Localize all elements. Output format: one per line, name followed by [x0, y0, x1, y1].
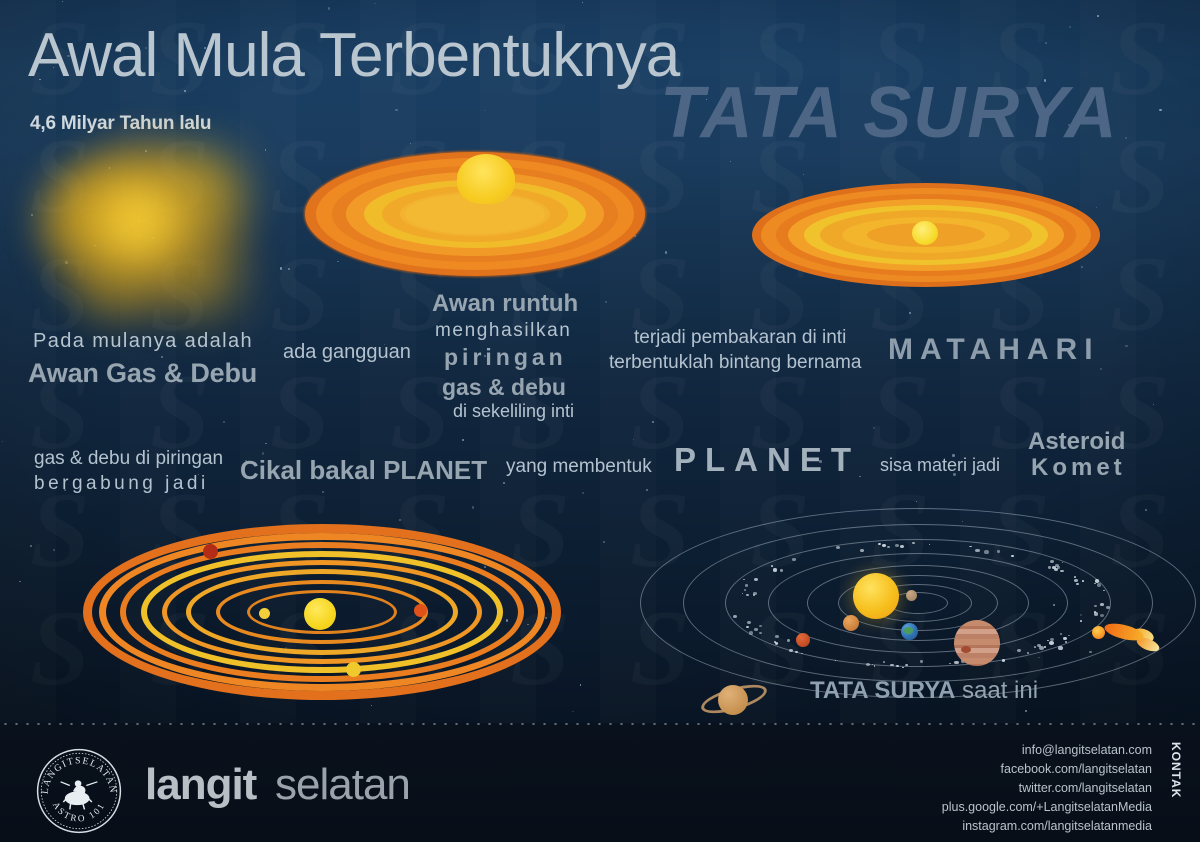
logo-badge: LANGITSELATAN ASTRO 101	[33, 745, 125, 837]
asteroid	[754, 628, 757, 631]
asteroid	[1058, 646, 1063, 650]
asteroid	[890, 664, 893, 667]
planet-venus	[843, 615, 859, 631]
asteroid	[970, 546, 972, 547]
step-4-label-matahari: MATAHARI	[888, 333, 1100, 367]
planetesimal-1	[259, 608, 270, 619]
asteroid	[749, 631, 753, 634]
diagram-protoplanetary-disk-2	[752, 180, 1100, 290]
star	[2, 441, 3, 442]
asteroid	[912, 542, 915, 544]
asteroid	[1100, 603, 1104, 606]
asteroid	[747, 621, 751, 624]
asteroid	[801, 653, 803, 655]
star	[1069, 26, 1071, 28]
asteroid	[887, 546, 890, 548]
star	[462, 439, 464, 441]
asteroid	[759, 625, 762, 627]
asteroid	[789, 649, 793, 652]
asteroid	[1027, 652, 1029, 654]
asteroid	[1095, 579, 1099, 582]
planetesimal-4	[346, 662, 361, 677]
asteroid	[746, 626, 748, 628]
asteroid	[771, 565, 773, 567]
present-system-label: TATA SURYA saat ini	[810, 677, 1038, 705]
star	[395, 109, 397, 111]
star	[1153, 404, 1154, 405]
asteroid	[795, 651, 798, 653]
asteroid	[835, 660, 836, 661]
asteroid	[753, 592, 756, 595]
asteroid	[1011, 555, 1013, 557]
star	[223, 421, 224, 422]
step-3-line-5: di sekeliling inti	[453, 401, 574, 422]
contact-email[interactable]: info@langitselatan.com	[942, 741, 1152, 760]
asteroid	[776, 643, 778, 645]
star	[1159, 109, 1161, 111]
asteroid	[1080, 620, 1083, 622]
star	[374, 3, 375, 4]
asteroid	[1017, 649, 1021, 652]
asteroid	[1048, 566, 1052, 569]
asteroid	[746, 594, 748, 596]
step-3-line-3: piringan	[444, 344, 567, 371]
step-5-line-1: gas & debu di piringan	[34, 448, 223, 470]
star	[371, 705, 372, 706]
asteroid	[1062, 562, 1063, 563]
asteroid	[905, 664, 907, 666]
star	[665, 251, 667, 253]
star	[1100, 368, 1102, 370]
asteroid	[1068, 635, 1070, 636]
asteroid	[742, 593, 743, 594]
footer-divider	[0, 723, 1200, 725]
earth-landmass	[904, 627, 913, 634]
asteroid	[787, 639, 790, 641]
step-3-line-2: menghasilkan	[435, 320, 571, 342]
asteroid	[895, 544, 899, 547]
star	[410, 143, 411, 144]
asteroid	[984, 550, 989, 554]
star	[1125, 345, 1127, 347]
asteroid	[954, 661, 959, 665]
asteroid	[1049, 641, 1054, 645]
asteroid	[773, 568, 778, 572]
asteroid	[1002, 659, 1005, 662]
asteroid	[754, 578, 758, 581]
asteroid	[949, 663, 951, 664]
jupiter-red-spot	[961, 646, 971, 653]
asteroid	[1106, 606, 1111, 610]
step-6-connector: yang membentuk	[506, 456, 652, 478]
star	[803, 174, 804, 175]
star	[322, 491, 324, 493]
planet-jupiter	[954, 620, 1000, 666]
infographic-poster: SSSSSSSSSSSSSSSSSSSSSSSSSSSSSSSSSSSSSSSS…	[0, 0, 1200, 842]
step-1-caption-bold: Awan Gas & Debu	[28, 358, 257, 389]
asteroid	[1060, 570, 1064, 573]
star	[53, 549, 55, 551]
asteroid	[860, 549, 864, 552]
step-5-line-2: bergabung jadi	[34, 473, 209, 495]
asteroid	[780, 569, 784, 572]
star	[633, 439, 634, 440]
step-4-line-1: terjadi pembakaran di inti	[634, 327, 846, 349]
step-7-connector: sisa materi jadi	[880, 455, 1000, 476]
star	[280, 267, 282, 269]
step-4-line-2: terbentuklah bintang bernama	[609, 352, 861, 374]
asteroid	[1054, 568, 1058, 571]
asteroid	[997, 550, 1001, 553]
asteroid	[1097, 583, 1101, 587]
star	[580, 684, 581, 685]
step-1-caption-top: Pada mulanya adalah	[33, 330, 253, 353]
asteroid	[733, 615, 737, 618]
asteroid	[1082, 580, 1084, 582]
asteroid	[902, 667, 904, 669]
star	[62, 1, 63, 2]
present-system-label-light: saat ini	[962, 677, 1038, 704]
star	[605, 301, 607, 303]
star	[503, 482, 505, 484]
asteroid	[883, 661, 886, 663]
proto-sun	[304, 598, 336, 630]
step-6-label-planet: PLANET	[674, 441, 860, 479]
step-5-label-cikal-bakal-planet: Cikal bakal PLANET	[240, 455, 487, 486]
star	[1097, 15, 1099, 17]
star	[873, 427, 875, 429]
diagram-early-solar-system	[82, 522, 562, 702]
asteroid	[744, 589, 746, 591]
asteroid	[882, 544, 886, 547]
contact-twitter[interactable]: twitter.com/langitselatan	[942, 779, 1152, 798]
step-3-line-4: gas & debu	[442, 374, 566, 401]
star	[582, 2, 583, 3]
planet-saturn	[696, 674, 772, 726]
asteroid	[775, 635, 779, 638]
star	[1025, 710, 1027, 712]
asteroid	[920, 660, 923, 663]
asteroid	[1034, 646, 1036, 648]
asteroid	[1100, 614, 1104, 617]
planet-mercury	[906, 590, 917, 601]
star	[1125, 137, 1127, 139]
asteroid	[1094, 583, 1096, 584]
asteroid	[1044, 646, 1046, 647]
star	[328, 7, 330, 9]
diagram-protoplanetary-disk-1	[305, 148, 645, 280]
star	[582, 492, 584, 494]
star	[399, 519, 401, 521]
planet-mars	[796, 633, 810, 647]
comet	[1086, 623, 1158, 657]
star	[484, 110, 485, 111]
asteroid	[1063, 637, 1067, 640]
asteroid	[896, 665, 899, 667]
step-7-label-asteroid: Asteroid	[1028, 428, 1125, 456]
planetesimal-2	[414, 604, 427, 617]
planet-sun	[853, 573, 899, 619]
present-system-label-bold: TATA SURYA	[810, 677, 955, 704]
asteroid	[1094, 605, 1097, 608]
step-7-label-komet: Komet	[1031, 454, 1126, 482]
asteroid	[929, 544, 931, 545]
asteroid	[866, 663, 870, 666]
asteroid	[743, 579, 745, 581]
asteroid	[1065, 641, 1067, 643]
contact-facebook[interactable]: facebook.com/langitselatan	[942, 760, 1152, 779]
brand-name-bold: langit	[145, 760, 256, 810]
planetesimal-3	[203, 544, 218, 559]
star	[472, 506, 474, 508]
asteroid	[1050, 560, 1054, 563]
asteroid	[1076, 583, 1078, 585]
asteroid	[759, 632, 762, 635]
star	[909, 312, 911, 314]
star	[30, 545, 32, 547]
asteroid	[900, 545, 904, 548]
star	[288, 268, 290, 270]
star	[652, 421, 654, 423]
asteroid	[874, 665, 876, 666]
title-accent-tata-surya: TATA SURYA	[660, 72, 1119, 154]
star	[646, 489, 648, 491]
star	[603, 541, 605, 543]
contact-section-label: KONTAK	[1169, 742, 1183, 798]
asteroid	[975, 549, 980, 553]
asteroid	[745, 584, 749, 587]
star	[572, 711, 574, 713]
asteroid	[836, 546, 840, 549]
contact-list: info@langitselatan.com facebook.com/lang…	[942, 741, 1152, 836]
brand-name-light: selatan	[275, 760, 410, 810]
asteroid	[792, 558, 795, 561]
step-3-line-1: Awan runtuh	[432, 290, 578, 318]
contact-instagram[interactable]: instagram.com/langitselatanmedia	[942, 817, 1152, 836]
diagram-gas-cloud	[22, 118, 272, 333]
asteroid	[774, 641, 776, 643]
asteroid	[1103, 590, 1105, 591]
asteroid	[1094, 612, 1099, 616]
contact-googleplus[interactable]: plus.google.com/+LangitselatanMedia	[942, 798, 1152, 817]
star	[265, 443, 266, 444]
asteroid	[878, 543, 881, 546]
step-2-caption: ada gangguan	[283, 341, 411, 364]
star	[730, 161, 731, 162]
page-title: Awal Mula Terbentuknya	[28, 20, 679, 91]
star	[1045, 42, 1047, 44]
star	[19, 581, 21, 583]
asteroid	[1074, 579, 1077, 582]
